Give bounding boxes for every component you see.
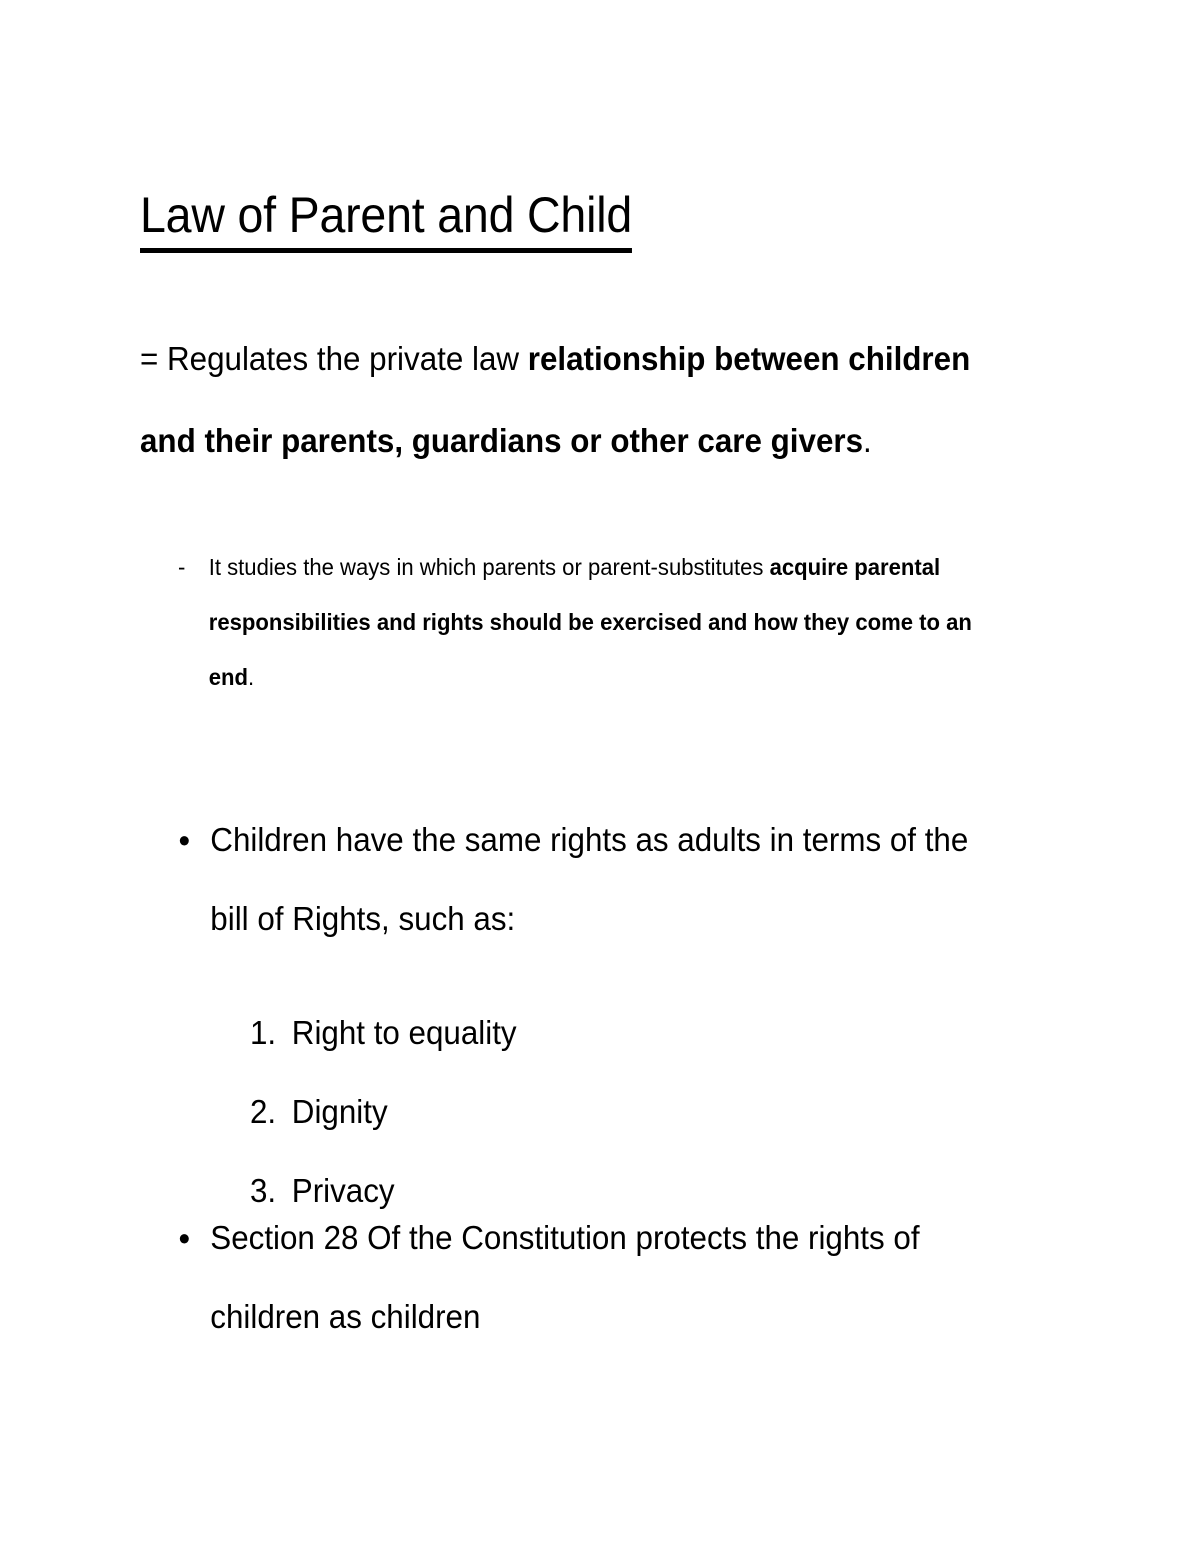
list-item-children-rights: ● Children have the same rights as adult… — [178, 800, 976, 958]
page-title-text: Law of Parent and Child — [140, 186, 632, 253]
lead-paragraph: = Regulates the private law relationship… — [140, 318, 995, 482]
sub-bullet-item: - It studies the ways in which parents o… — [178, 540, 1004, 705]
bullet-marker-icon: ● — [178, 1198, 210, 1277]
lead-paragraph-regular-suffix: . — [863, 422, 872, 459]
sub-bullet-text: It studies the ways in which parents or … — [209, 540, 1004, 705]
list-item: 2. Dignity — [250, 1072, 915, 1151]
lead-paragraph-regular-prefix: = Regulates the private law — [140, 340, 528, 377]
document-page: Law of Parent and Child = Regulates the … — [0, 0, 1200, 1553]
list-item-number: 1. — [250, 993, 292, 1072]
list-item-label: Right to equality — [292, 993, 915, 1072]
dash-bullet-marker: - — [178, 540, 209, 595]
list-item-label: Dignity — [292, 1072, 915, 1151]
numbered-list: 1. Right to equality 2. Dignity 3. Priva… — [212, 993, 915, 1230]
list-item-text: Section 28 Of the Constitution protects … — [210, 1198, 976, 1356]
list-item-number: 2. — [250, 1072, 292, 1151]
page-title: Law of Parent and Child — [140, 186, 632, 253]
list-item: 1. Right to equality — [250, 993, 915, 1072]
bullet-marker-icon: ● — [178, 800, 210, 879]
sub-bullet-regular-suffix: . — [248, 664, 254, 690]
list-item-text: Children have the same rights as adults … — [210, 800, 976, 958]
sub-bullet-regular: It studies the ways in which parents or … — [209, 554, 770, 580]
list-item-section-28: ● Section 28 Of the Constitution protect… — [178, 1198, 976, 1356]
